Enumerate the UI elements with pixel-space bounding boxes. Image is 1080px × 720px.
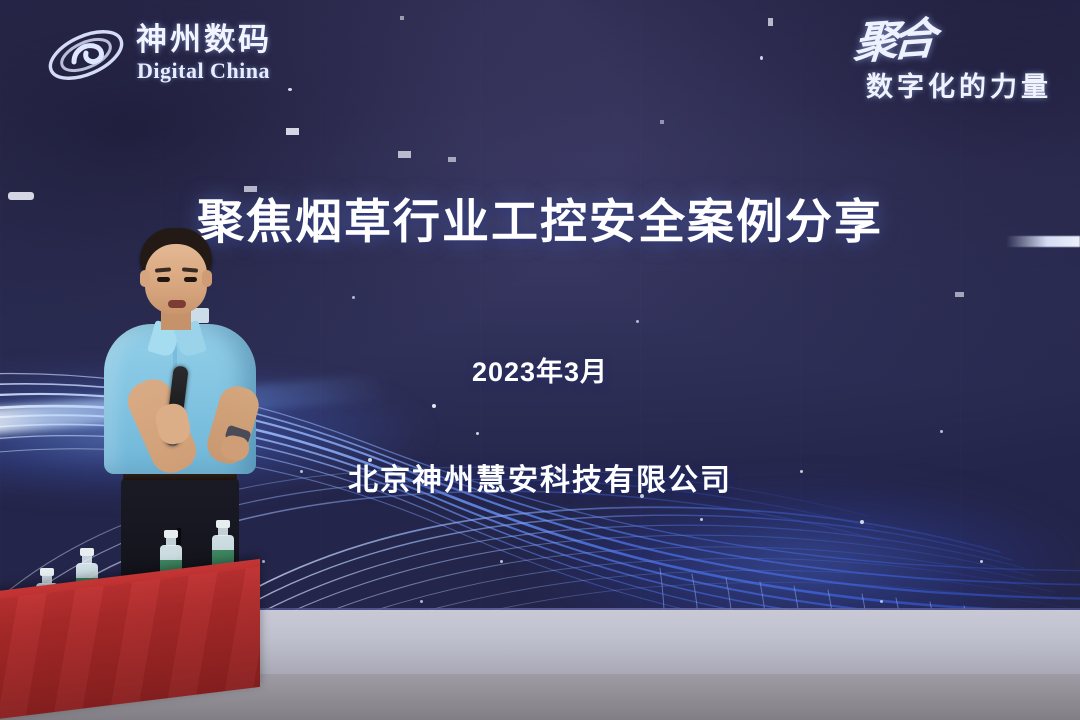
led-blip	[955, 292, 964, 297]
particle-dot	[352, 296, 355, 299]
particle-dot	[288, 88, 292, 91]
digital-china-english-name: Digital China	[137, 59, 270, 83]
event-logo-calligraphy: 聚合	[852, 17, 932, 66]
led-blip	[660, 120, 664, 124]
speaker-mouth	[168, 300, 186, 308]
led-blip	[398, 151, 411, 158]
led-blip	[286, 128, 299, 135]
led-blip	[448, 157, 456, 162]
digital-china-swirl-icon	[44, 26, 128, 84]
speaker-eye-right	[184, 277, 197, 282]
led-blip	[400, 16, 404, 20]
particle-dot	[760, 56, 763, 60]
speaker-ear-left	[140, 270, 150, 287]
particle-dot	[636, 320, 639, 323]
conference-photo-scene: 神州数码 Digital China 聚合 数字化的力量 聚焦烟草行业工控安全案…	[0, 0, 1080, 720]
digital-china-logo: 神州数码 Digital China	[44, 22, 284, 88]
speaker-ear-right	[202, 270, 212, 287]
event-logo-tagline: 数字化的力量	[866, 72, 1052, 102]
event-logo: 聚合 数字化的力量	[808, 14, 1058, 119]
digital-china-chinese-name: 神州数码	[136, 22, 272, 58]
speaker-eye-left	[157, 277, 170, 282]
led-blip	[768, 18, 773, 26]
